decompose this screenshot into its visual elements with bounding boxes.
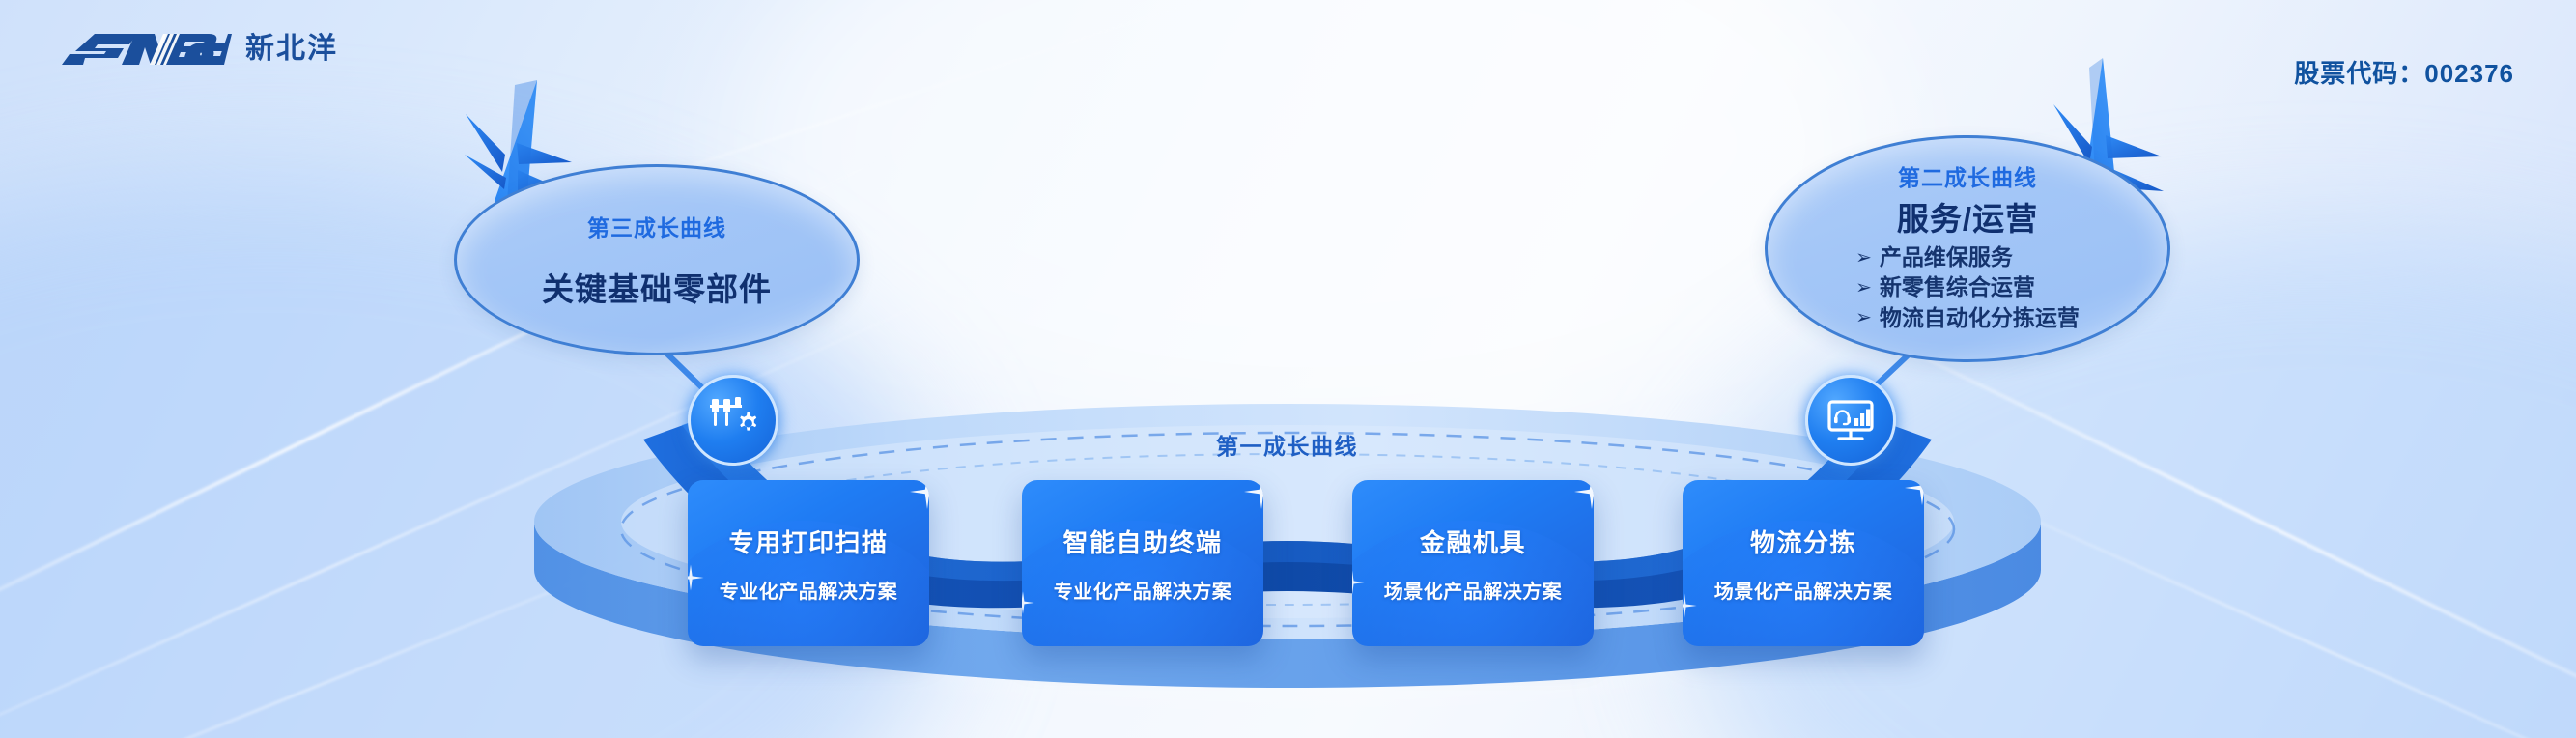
monitor-headset-chart-icon-node[interactable] <box>1805 375 1896 466</box>
product-card-subtitle: 场景化产品解决方案 <box>1384 576 1563 604</box>
second-curve-bullet-list: ➢产品维保服务➢新零售综合运营➢物流自动化分拣运营 <box>1855 242 2080 333</box>
second-curve-bullet-label: 新零售综合运营 <box>1880 272 2035 302</box>
chevron-right-icon: ➢ <box>1855 248 1872 268</box>
product-card[interactable]: 专用打印扫描 专业化产品解决方案 <box>688 480 929 646</box>
sparkle-icon <box>1352 569 1366 596</box>
product-card-subtitle: 场景化产品解决方案 <box>1714 576 1893 604</box>
monitor-headset-chart-icon <box>1826 395 1876 445</box>
product-card[interactable]: 金融机具 场景化产品解决方案 <box>1352 480 1594 646</box>
growth-curve-illustration <box>0 0 2576 738</box>
second-curve-bullet-label: 物流自动化分拣运营 <box>1880 303 2080 333</box>
product-card-title: 金融机具 <box>1420 524 1526 559</box>
poster-canvas: 新北洋 股票代码：002376 第三成长曲线 关键基础零部件 第二成长曲线 服务… <box>0 0 2576 738</box>
product-card-title: 专用打印扫描 <box>728 524 888 559</box>
third-growth-curve-bubble[interactable]: 第三成长曲线 关键基础零部件 <box>454 164 860 355</box>
product-card-title: 物流分拣 <box>1750 524 1856 559</box>
snbc-logo-icon <box>62 27 232 71</box>
brand-logo[interactable]: 新北洋 <box>62 27 338 71</box>
product-card[interactable]: 物流分拣 场景化产品解决方案 <box>1683 480 1924 646</box>
second-curve-bullet-label: 产品维保服务 <box>1880 242 2013 272</box>
third-curve-headline: 关键基础零部件 <box>542 264 772 310</box>
chevron-right-icon: ➢ <box>1855 308 1872 327</box>
product-card-subtitle: 专业化产品解决方案 <box>1054 576 1232 604</box>
sparkle-icon <box>1022 590 1035 615</box>
sparkle-icon <box>688 563 705 592</box>
second-curve-headline: 服务/运营 <box>1897 193 2038 240</box>
second-growth-curve-bubble[interactable]: 第二成长曲线 服务/运营 ➢产品维保服务➢新零售综合运营➢物流自动化分拣运营 <box>1765 135 2170 362</box>
second-curve-bullet-item: ➢新零售综合运营 <box>1855 272 2080 302</box>
chevron-right-icon: ➢ <box>1855 278 1872 298</box>
sliders-gear-icon-node[interactable] <box>688 375 778 466</box>
sparkle-icon <box>1683 592 1698 619</box>
product-card[interactable]: 智能自助终端 专业化产品解决方案 <box>1022 480 1263 646</box>
second-curve-eyebrow: 第二成长曲线 <box>1898 159 2037 192</box>
stock-code-label: 股票代码：002376 <box>2294 54 2514 90</box>
second-curve-bullet-item: ➢物流自动化分拣运营 <box>1855 303 2080 333</box>
sliders-gear-icon <box>708 395 758 445</box>
product-card-subtitle: 专业化产品解决方案 <box>720 576 898 604</box>
first-growth-curve-label: 第一成长曲线 <box>1216 428 1358 461</box>
brand-logo-cn: 新北洋 <box>245 35 338 64</box>
product-card-title: 智能自助终端 <box>1062 524 1222 559</box>
third-curve-eyebrow: 第三成长曲线 <box>587 210 726 242</box>
second-curve-bullet-item: ➢产品维保服务 <box>1855 242 2080 272</box>
